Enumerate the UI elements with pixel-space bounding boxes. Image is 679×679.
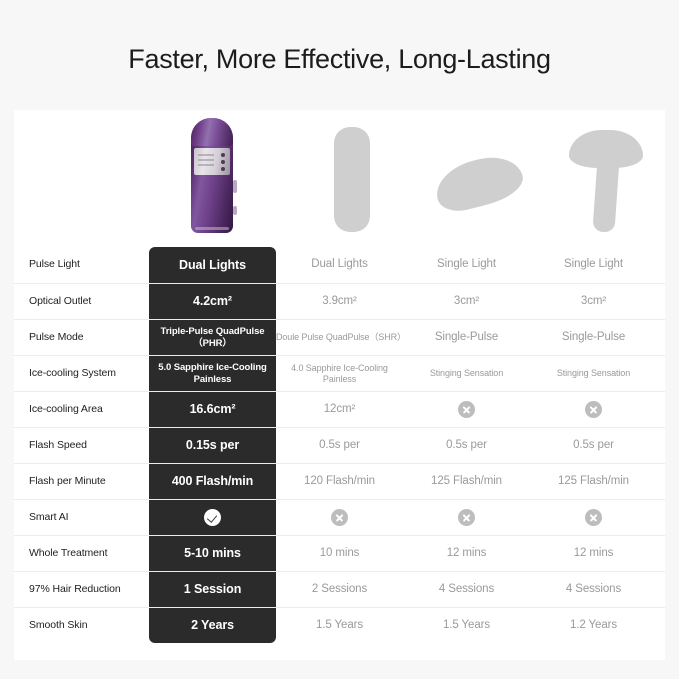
highlighted-cell: 5.0 Sapphire Ice-Cooling Painless	[149, 362, 276, 386]
comparison-card: Pulse LightDual LightsDual LightsSingle …	[14, 110, 665, 660]
product-competitor-bar-device	[288, 110, 415, 247]
comparison-cell: 10 mins	[276, 547, 403, 561]
comparison-cell: 4 Sessions	[530, 583, 657, 597]
row-label: Flash Speed	[14, 439, 149, 452]
highlighted-cell: 2 Years	[149, 618, 276, 633]
comparison-cell: 125 Flash/min	[403, 475, 530, 489]
comparison-cell: 12 mins	[530, 547, 657, 561]
table-row: Ice-cooling Area16.6cm²12cm²	[14, 391, 665, 427]
highlighted-cell: 400 Flash/min	[149, 474, 276, 489]
silhouette-t-stem-icon	[592, 157, 619, 232]
comparison-cell: 0.5s per	[276, 439, 403, 453]
table-row: Flash Speed0.15s per0.5s per0.5s per0.5s…	[14, 427, 665, 463]
comparison-cell: 3.9cm²	[276, 295, 403, 309]
table-row: Ice-cooling System5.0 Sapphire Ice-Cooli…	[14, 355, 665, 391]
highlighted-cell	[149, 509, 276, 526]
product-competitor-curve-device	[415, 110, 542, 247]
row-label: 97% Hair Reduction	[14, 583, 149, 596]
table-row: 97% Hair Reduction1 Session2 Sessions4 S…	[14, 571, 665, 607]
comparison-cell: 12 mins	[403, 547, 530, 561]
ipl-device-illustration	[191, 118, 235, 233]
comparison-cell: Doule Pulse QuadPulse（SHR）	[276, 332, 403, 343]
cross-icon	[458, 401, 475, 418]
highlighted-cell: Dual Lights	[149, 258, 276, 273]
comparison-cell	[276, 509, 403, 526]
device-side-button	[233, 180, 237, 193]
comparison-cell: Single Light	[530, 258, 657, 272]
row-label: Pulse Light	[14, 258, 149, 271]
highlighted-cell: Triple-Pulse QuadPulse（PHR）	[149, 326, 276, 350]
product-featured-ipl-device	[149, 110, 276, 247]
device-side-button	[233, 206, 237, 215]
device-indicator-dot	[221, 153, 225, 157]
table-row: Pulse ModeTriple-Pulse QuadPulse（PHR）Dou…	[14, 319, 665, 355]
comparison-cell: 125 Flash/min	[530, 475, 657, 489]
comparison-cell: 120 Flash/min	[276, 475, 403, 489]
check-icon	[204, 509, 221, 526]
device-cap	[191, 118, 233, 146]
row-label: Pulse Mode	[14, 331, 149, 344]
highlighted-cell: 5-10 mins	[149, 546, 276, 561]
comparison-cell: Single-Pulse	[403, 331, 530, 345]
comparison-cell: Stinging Sensation	[403, 368, 530, 379]
page-title: Faster, More Effective, Long-Lasting	[0, 44, 679, 75]
product-competitor-t-device	[542, 110, 669, 247]
table-row: Optical Outlet4.2cm²3.9cm²3cm²3cm²	[14, 283, 665, 319]
comparison-cell: Dual Lights	[276, 258, 403, 272]
cross-icon	[585, 401, 602, 418]
spec-comparison-table: Pulse LightDual LightsDual LightsSingle …	[14, 247, 665, 643]
comparison-cell: Single Light	[403, 258, 530, 272]
row-label: Ice-cooling Area	[14, 403, 149, 416]
comparison-cell: 4.0 Sapphire Ice-Cooling Painless	[276, 363, 403, 384]
cross-icon	[585, 509, 602, 526]
cross-icon	[458, 509, 475, 526]
product-image-row	[14, 110, 665, 247]
highlighted-cell: 1 Session	[149, 582, 276, 597]
table-body: Pulse LightDual LightsDual LightsSingle …	[14, 247, 665, 643]
row-label: Smart AI	[14, 511, 149, 524]
comparison-cell: 1.5 Years	[403, 619, 530, 633]
comparison-cell	[403, 509, 530, 526]
row-label: Whole Treatment	[14, 547, 149, 560]
device-screen	[194, 148, 230, 175]
comparison-cell: 3cm²	[403, 295, 530, 309]
highlighted-cell: 16.6cm²	[149, 402, 276, 417]
comparison-cell: Stinging Sensation	[530, 368, 657, 379]
comparison-cell: 12cm²	[276, 403, 403, 417]
row-label: Smooth Skin	[14, 619, 149, 632]
comparison-cell: 0.5s per	[403, 439, 530, 453]
comparison-page: Faster, More Effective, Long-Lasting	[0, 0, 679, 679]
row-label: Ice-cooling System	[14, 367, 149, 380]
cross-icon	[331, 509, 348, 526]
table-row: Flash per Minute400 Flash/min120 Flash/m…	[14, 463, 665, 499]
table-row: Pulse LightDual LightsDual LightsSingle …	[14, 247, 665, 283]
comparison-cell: 0.5s per	[530, 439, 657, 453]
table-row: Whole Treatment5-10 mins10 mins12 mins12…	[14, 535, 665, 571]
device-indicator-dot	[221, 167, 225, 171]
comparison-cell	[530, 401, 657, 418]
device-indicator-dot	[221, 160, 225, 164]
comparison-cell: 1.5 Years	[276, 619, 403, 633]
comparison-cell: 1.2 Years	[530, 619, 657, 633]
highlighted-cell: 0.15s per	[149, 438, 276, 453]
device-screen-bars	[198, 154, 214, 169]
table-row: Smooth Skin2 Years1.5 Years1.5 Years1.2 …	[14, 607, 665, 643]
device-base-stripe	[195, 227, 229, 230]
comparison-cell: Single-Pulse	[530, 331, 657, 345]
comparison-cell: 2 Sessions	[276, 583, 403, 597]
silhouette-bar-icon	[334, 127, 370, 232]
table-row: Smart AI	[14, 499, 665, 535]
row-label: Flash per Minute	[14, 475, 149, 488]
comparison-cell: 4 Sessions	[403, 583, 530, 597]
highlighted-cell: 4.2cm²	[149, 294, 276, 309]
comparison-cell: 3cm²	[530, 295, 657, 309]
row-label: Optical Outlet	[14, 295, 149, 308]
comparison-cell	[530, 509, 657, 526]
comparison-cell	[403, 401, 530, 418]
silhouette-curve-icon	[430, 150, 527, 216]
